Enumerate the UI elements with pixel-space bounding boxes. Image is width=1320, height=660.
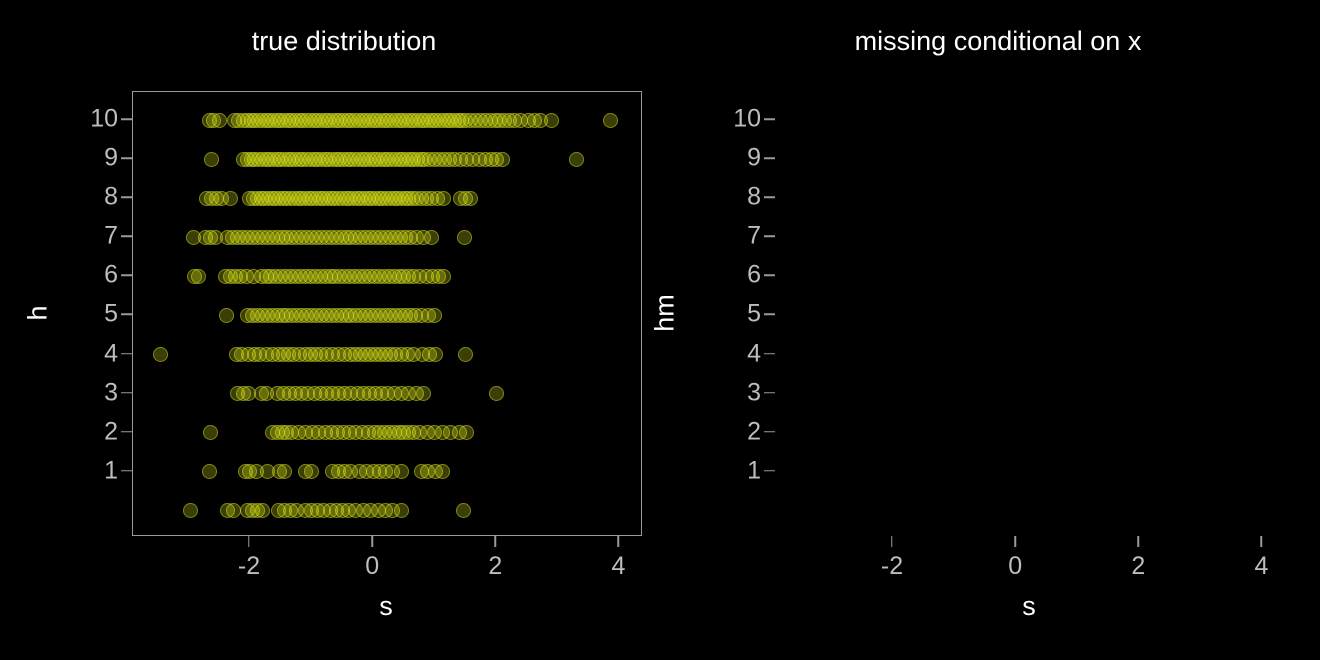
- y-tick-mark: [121, 197, 132, 199]
- y-tick-mark: [764, 392, 775, 394]
- x-tick-mark: [1261, 536, 1263, 547]
- y-tick-mark: [764, 275, 775, 277]
- data-point: [424, 230, 439, 245]
- y-tick-label: 5: [707, 300, 761, 329]
- x-tick-label: 0: [365, 552, 379, 581]
- data-point: [458, 347, 473, 362]
- y-tick-mark: [121, 392, 132, 394]
- x-tick-mark: [371, 536, 373, 547]
- data-point: [203, 425, 218, 440]
- y-tick-label: 10: [64, 105, 118, 134]
- figure-root: true distribution 10987654321 -2024 h s …: [0, 0, 1320, 660]
- x-tick-label: 2: [488, 552, 502, 581]
- data-point: [416, 386, 431, 401]
- y-tick-mark: [121, 157, 132, 159]
- data-point: [255, 503, 270, 518]
- data-point: [544, 113, 559, 128]
- x-axis-title-right: s: [1022, 591, 1036, 622]
- y-tick-label: 9: [707, 144, 761, 173]
- data-point: [436, 269, 451, 284]
- data-point: [153, 347, 168, 362]
- y-tick-mark: [121, 314, 132, 316]
- y-axis-title-right: hm: [650, 294, 681, 332]
- y-tick-mark: [121, 236, 132, 238]
- data-point: [183, 503, 198, 518]
- data-point: [394, 464, 409, 479]
- y-tick-label: 1: [707, 456, 761, 485]
- y-tick-mark: [121, 275, 132, 277]
- y-tick-label: 6: [707, 261, 761, 290]
- y-tick-label: 9: [64, 144, 118, 173]
- data-point: [463, 191, 478, 206]
- y-tick-mark: [764, 118, 775, 120]
- y-tick-mark: [121, 431, 132, 433]
- data-point: [304, 464, 319, 479]
- y-tick-mark: [764, 314, 775, 316]
- facet-missing-conditional-on-x: missing conditional on x 10987654321 -20…: [660, 0, 1320, 660]
- y-tick-label: 4: [64, 339, 118, 368]
- x-tick-label: -2: [238, 552, 260, 581]
- y-tick-label: 2: [64, 417, 118, 446]
- y-tick-mark: [121, 353, 132, 355]
- data-point: [202, 464, 217, 479]
- x-tick-mark: [618, 536, 620, 547]
- y-tick-label: 3: [707, 378, 761, 407]
- x-tick-label: 2: [1131, 552, 1145, 581]
- y-tick-mark: [764, 236, 775, 238]
- y-tick-label: 7: [707, 222, 761, 251]
- data-point: [219, 308, 234, 323]
- plot-panel-left: [132, 91, 642, 536]
- data-point: [435, 464, 450, 479]
- data-point: [457, 230, 472, 245]
- x-tick-mark: [248, 536, 250, 547]
- data-point: [191, 269, 206, 284]
- data-point: [204, 152, 219, 167]
- y-tick-label: 10: [707, 105, 761, 134]
- y-tick-label: 5: [64, 300, 118, 329]
- x-axis-title-left: s: [379, 591, 393, 622]
- data-point: [495, 152, 510, 167]
- y-tick-label: 8: [707, 183, 761, 212]
- x-tick-label: 4: [611, 552, 625, 581]
- y-tick-label: 1: [64, 456, 118, 485]
- y-tick-label: 2: [707, 417, 761, 446]
- y-tick-label: 3: [64, 378, 118, 407]
- x-tick-mark: [891, 536, 893, 547]
- data-point: [436, 191, 451, 206]
- x-tick-label: -2: [881, 552, 903, 581]
- y-tick-mark: [764, 353, 775, 355]
- y-axis-title-left: h: [23, 305, 54, 320]
- data-point: [456, 503, 471, 518]
- y-tick-label: 8: [64, 183, 118, 212]
- y-tick-mark: [121, 118, 132, 120]
- x-tick-mark: [495, 536, 497, 547]
- data-point: [459, 425, 474, 440]
- x-tick-label: 4: [1254, 552, 1268, 581]
- data-point: [427, 308, 442, 323]
- y-tick-label: 4: [707, 339, 761, 368]
- y-tick-label: 6: [64, 261, 118, 290]
- x-tick-label: 0: [1008, 552, 1022, 581]
- y-tick-label: 7: [64, 222, 118, 251]
- facet-title-left: true distribution: [0, 26, 674, 57]
- data-point: [223, 191, 238, 206]
- data-point: [428, 347, 443, 362]
- x-tick-mark: [1138, 536, 1140, 547]
- y-tick-mark: [764, 470, 775, 472]
- facet-true-distribution: true distribution 10987654321 -2024 h s: [0, 0, 660, 660]
- data-point: [603, 113, 618, 128]
- data-point: [489, 386, 504, 401]
- data-point: [212, 113, 227, 128]
- data-point: [569, 152, 584, 167]
- y-tick-mark: [764, 431, 775, 433]
- y-tick-mark: [764, 197, 775, 199]
- facet-title-right: missing conditional on x: [660, 26, 1320, 57]
- data-point: [277, 464, 292, 479]
- y-tick-mark: [764, 157, 775, 159]
- data-point: [394, 503, 409, 518]
- x-tick-mark: [1014, 536, 1016, 547]
- y-tick-mark: [121, 470, 132, 472]
- scatter-points-left: [133, 92, 641, 535]
